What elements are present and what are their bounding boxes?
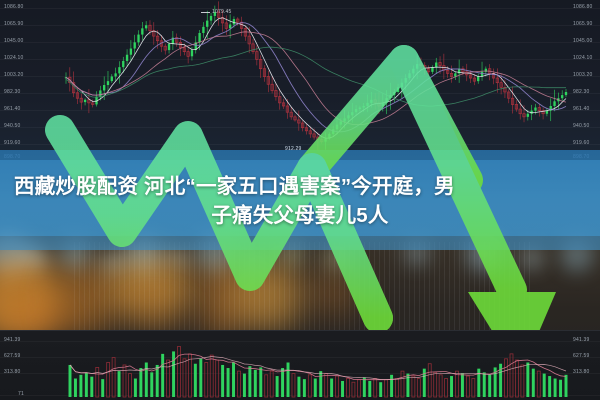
volume-bar xyxy=(379,382,382,397)
volume-bar xyxy=(227,368,230,397)
volume-bar xyxy=(150,372,153,397)
volume-bar xyxy=(243,374,246,397)
volume-bar xyxy=(297,377,300,397)
volume-bar xyxy=(281,368,284,397)
volume-bar xyxy=(79,375,82,397)
volume-ytick-right: 941.39 xyxy=(573,338,590,343)
volume-bar xyxy=(270,371,273,397)
volume-bar xyxy=(134,379,137,397)
volume-ytick-left: 627.59 xyxy=(4,354,21,359)
volume-bar xyxy=(237,371,240,397)
volume-bar xyxy=(161,354,164,397)
volume-bar xyxy=(396,379,399,397)
volume-bar xyxy=(374,379,377,397)
volume-bar xyxy=(128,374,131,397)
volume-bar xyxy=(466,376,469,397)
volume-bar xyxy=(287,362,290,397)
volume-bar xyxy=(515,360,518,397)
volume-bar xyxy=(276,376,279,397)
volume-bar xyxy=(303,379,306,397)
volume-ytick-left: 71 xyxy=(18,392,24,397)
volume-bar xyxy=(461,374,464,397)
volume-ytick-left: 313.80 xyxy=(4,370,21,375)
volume-bar xyxy=(352,382,355,397)
volume-bar xyxy=(123,365,126,397)
volume-bar xyxy=(483,372,486,397)
volume-bar xyxy=(183,359,186,397)
volume-bar xyxy=(69,365,72,397)
volume-bar xyxy=(368,381,371,397)
volume-bar xyxy=(167,360,170,397)
volume-bar xyxy=(216,360,219,397)
volume-bar xyxy=(221,365,224,397)
screenshot-root: 1086.80 1065.90 1045.00 1024.10 1003.20 … xyxy=(0,0,600,400)
volume-bar xyxy=(139,368,142,397)
volume-bar xyxy=(90,377,93,397)
volume-ytick-right: 313.80 xyxy=(573,370,590,375)
volume-bar xyxy=(178,346,181,397)
volume-bar xyxy=(401,371,404,397)
volume-bar xyxy=(145,362,148,397)
volume-chart-panel[interactable]: 941.39 627.59 313.80 71 941.39 627.59 31… xyxy=(0,330,600,400)
volume-bar xyxy=(357,380,360,397)
volume-bar xyxy=(554,379,557,397)
volume-bar xyxy=(96,367,99,397)
volume-bar xyxy=(248,366,251,397)
volume-bar xyxy=(259,367,262,397)
volume-bar xyxy=(445,379,448,397)
volume-bar xyxy=(325,374,328,397)
headline-text: 西藏炒股配资 河北“一家五口遇害案”今开庭，男 子痛失父母妻儿5人 xyxy=(14,172,586,230)
volume-bar xyxy=(232,362,235,397)
volume-bar xyxy=(537,371,540,397)
volume-bar xyxy=(210,355,213,397)
volume-bar xyxy=(385,380,388,397)
volume-bar xyxy=(428,364,431,397)
volume-bar xyxy=(292,374,295,397)
volume-bar xyxy=(532,369,535,397)
volume-bar xyxy=(199,359,202,397)
volume-bar xyxy=(406,374,409,397)
volume-bar xyxy=(101,379,104,397)
volume-bar xyxy=(390,375,393,397)
volume-plot xyxy=(0,331,600,400)
headline-line-1: 西藏炒股配资 河北“一家五口遇害案”今开庭，男 xyxy=(14,175,455,198)
volume-bar xyxy=(472,379,475,397)
volume-bar xyxy=(543,374,546,397)
volume-bar xyxy=(434,372,437,397)
volume-bar xyxy=(341,381,344,397)
volume-bar xyxy=(439,375,442,397)
volume-bar xyxy=(319,371,322,397)
volume-bar xyxy=(112,358,115,397)
volume-bar xyxy=(346,379,349,397)
volume-bar xyxy=(107,362,110,397)
volume-bar xyxy=(172,351,175,397)
volume-bar xyxy=(526,362,529,397)
volume-bar xyxy=(363,377,366,397)
volume-bar xyxy=(254,370,257,397)
volume-ytick-right: 627.59 xyxy=(573,354,590,359)
volume-bar xyxy=(417,379,420,397)
volume-bar xyxy=(188,354,191,397)
volume-bar xyxy=(85,372,88,397)
volume-bar xyxy=(314,379,317,397)
volume-bar xyxy=(308,375,311,397)
volume-bar xyxy=(477,369,480,397)
volume-bar xyxy=(194,364,197,397)
volume-bar xyxy=(330,379,333,397)
volume-bar xyxy=(412,376,415,397)
volume-bar xyxy=(205,362,208,397)
volume-bar xyxy=(74,379,77,397)
volume-bar xyxy=(336,376,339,397)
volume-bar xyxy=(450,376,453,397)
volume-bar xyxy=(565,375,568,397)
volume-ytick-left: 941.39 xyxy=(4,338,21,343)
volume-bar xyxy=(488,375,491,397)
headline-line-2: 子痛失父母妻儿5人 xyxy=(14,201,586,230)
volume-bar xyxy=(510,354,513,397)
volume-bar xyxy=(118,371,121,397)
volume-bar xyxy=(521,365,524,397)
volume-bar xyxy=(265,375,268,397)
volume-bar xyxy=(505,359,508,397)
trough-annotation: 912.29 xyxy=(285,147,302,152)
volume-bar xyxy=(548,376,551,397)
volume-bar xyxy=(559,380,562,397)
